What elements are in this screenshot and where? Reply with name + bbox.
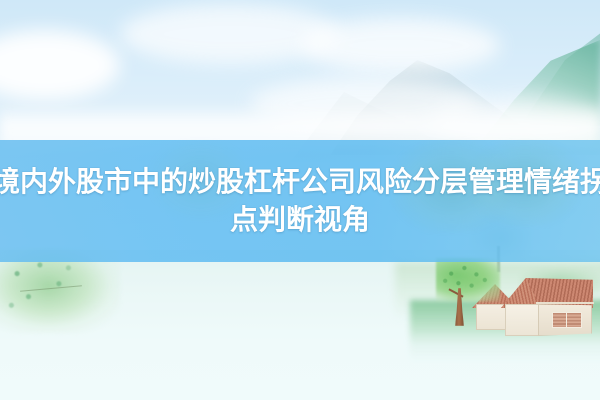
banner-title-line-1: 境内外股市中的炒股杠杆公司风险分层管理情绪拐 [0, 163, 600, 201]
cottage-eave [536, 302, 594, 304]
cottage-window-mullion [566, 312, 567, 328]
cottage-wall-front [505, 304, 539, 336]
banner-title-line-2: 点判断视角 [230, 201, 370, 239]
cloud-icon [300, 18, 500, 73]
tree-leaf-detail [438, 260, 498, 300]
banner-title: 境内外股市中的炒股杠杆公司风险分层管理情绪拐 点判断视角 [0, 140, 600, 262]
banner-image: 境内外股市中的炒股杠杆公司风险分层管理情绪拐 点判断视角 [0, 0, 600, 400]
